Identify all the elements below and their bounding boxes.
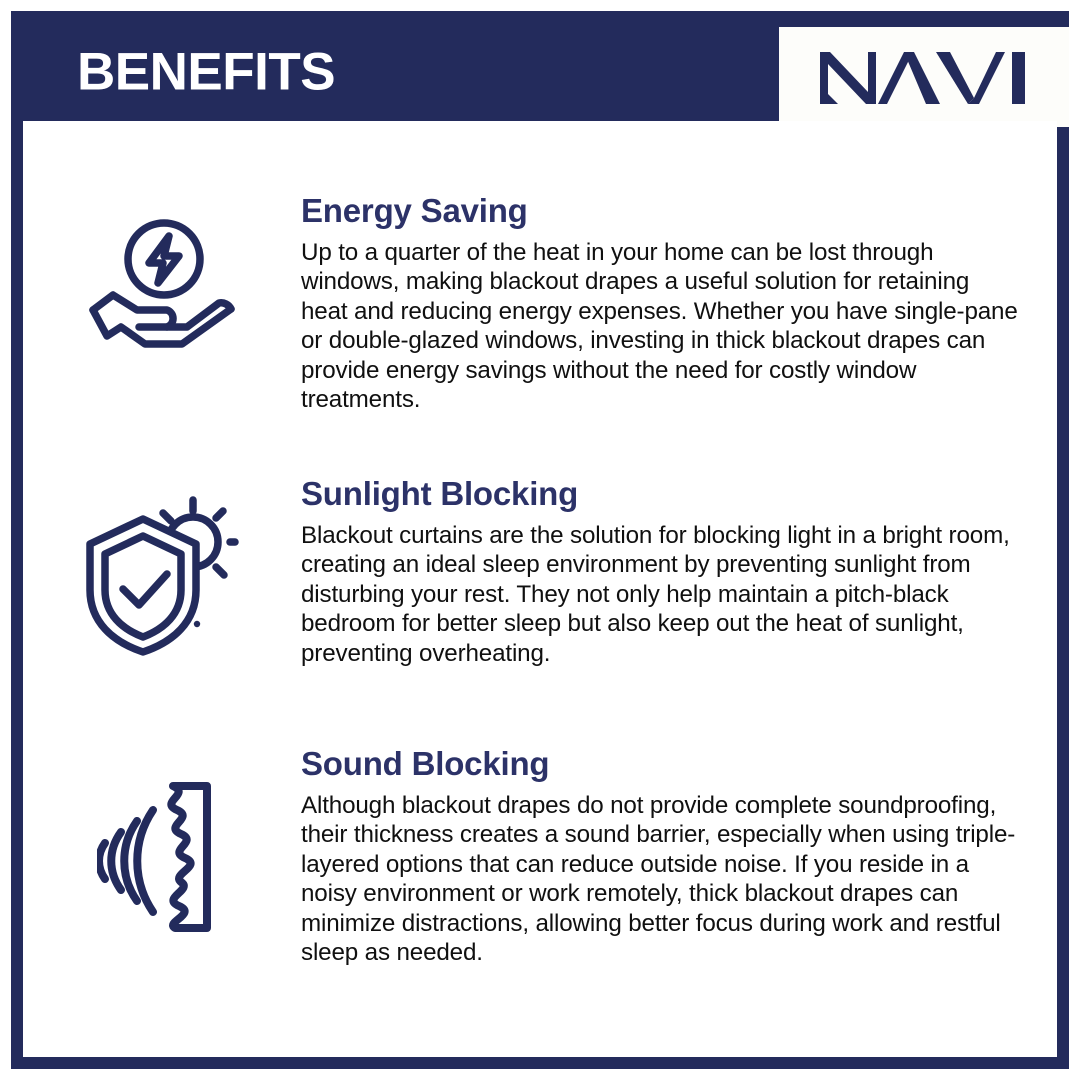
page-title: BENEFITS [77, 46, 335, 99]
benefit-item-energy-saving: Energy Saving Up to a quarter of the hea… [23, 193, 1057, 414]
header-band: BENEFITS NAVI [23, 23, 1057, 121]
poster-frame: BENEFITS NAVI [11, 11, 1069, 1069]
hand-holding-lightning-bolt-icon [87, 217, 237, 367]
benefit-title: Sunlight Blocking [301, 476, 1021, 513]
benefits-list: Energy Saving Up to a quarter of the hea… [23, 121, 1057, 1057]
benefit-title: Sound Blocking [301, 746, 1021, 783]
benefit-body: Blackout curtains are the solution for b… [301, 521, 1021, 668]
benefit-text-cell: Sunlight Blocking Blackout curtains are … [301, 476, 1057, 668]
benefit-body: Although blackout drapes do not provide … [301, 791, 1021, 967]
sound-waves-curtain-icon [97, 776, 227, 938]
benefit-icon-cell [23, 193, 301, 367]
benefit-item-sunlight-blocking: Sunlight Blocking Blackout curtains are … [23, 476, 1057, 668]
benefit-body: Up to a quarter of the heat in your home… [301, 238, 1021, 414]
benefit-item-sound-blocking: Sound Blocking Although blackout drapes … [23, 746, 1057, 967]
benefit-icon-cell [23, 476, 301, 659]
logo-container: NAVI [779, 27, 1069, 127]
shield-check-sun-icon [85, 494, 240, 659]
benefit-text-cell: Sound Blocking Although blackout drapes … [301, 746, 1057, 967]
benefit-text-cell: Energy Saving Up to a quarter of the hea… [301, 193, 1057, 414]
navi-logo-icon [816, 46, 1032, 108]
benefit-icon-cell [23, 746, 301, 938]
benefit-title: Energy Saving [301, 193, 1021, 230]
